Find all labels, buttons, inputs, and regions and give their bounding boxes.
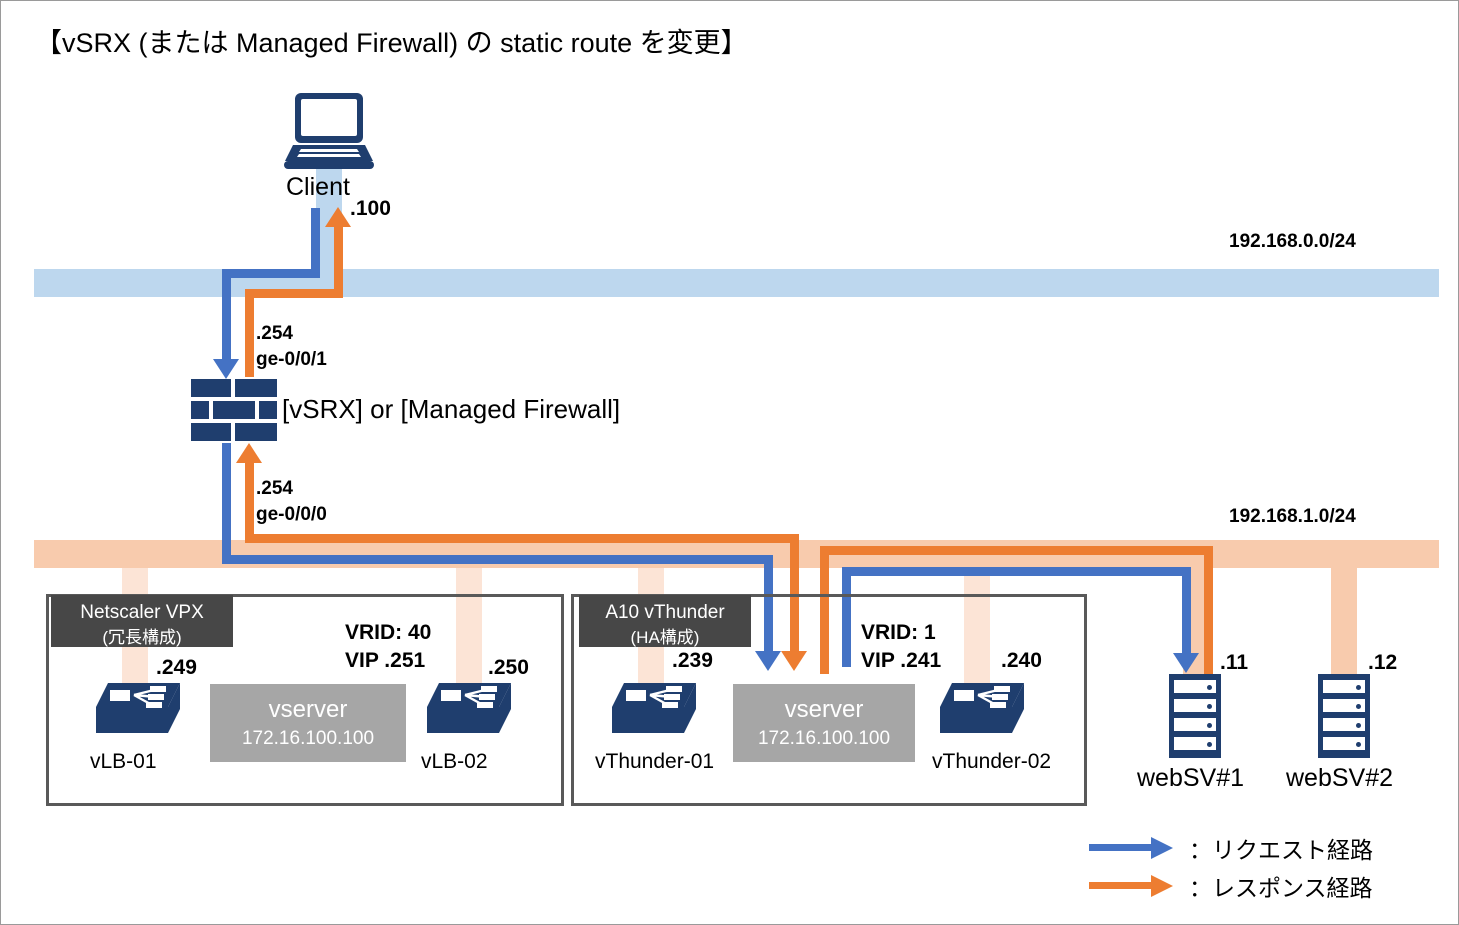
flow-blue-client-corner-h (222, 269, 320, 278)
legend-arrow-response (1151, 875, 1173, 897)
flow-blue-bar2-h (842, 567, 1191, 576)
vthunder-vserver-ip: 172.16.100.100 (733, 728, 915, 750)
vthunder-vserver-title: vserver (733, 696, 915, 724)
group-header-netscaler: Netscaler VPX (冗長構成) (51, 595, 233, 647)
fw-if-bottom-ip: .254 (256, 478, 293, 499)
flow-orange-bar-h (245, 534, 799, 543)
vlb01-name: vLB-01 (90, 750, 157, 774)
network-label-top: 192.168.0.0/24 (1229, 231, 1356, 253)
flow-orange-fw-up-v (245, 289, 254, 377)
flow-blue-client-down-a (311, 208, 320, 276)
firewall-interface-top: .254 ge-0/0/1 (256, 321, 327, 373)
flow-orange-corner-h (245, 289, 343, 298)
flow-orange-bar2-h (820, 546, 1213, 555)
websv1-ip: .11 (1220, 651, 1248, 675)
fw-if-top-ip: .254 (256, 323, 293, 344)
flow-blue-down-websv1-v (1182, 567, 1191, 655)
client-ip-label: .100 (350, 197, 391, 221)
legend-label-response: ：レスポンス経路 (1189, 869, 1373, 903)
netscaler-vip: VIP .251 (345, 649, 425, 672)
client-label: Client (286, 173, 350, 202)
flow-blue-to-fw-v (222, 269, 231, 361)
vthunder-vip: VIP .241 (861, 649, 941, 672)
websv2-name: webSV#2 (1286, 764, 1393, 793)
loadbalancer-icon-vlb01 (94, 681, 184, 747)
netscaler-header-sub: (冗長構成) (61, 625, 223, 650)
vthunder01-name: vThunder-01 (595, 750, 714, 774)
vlb01-ip: .249 (156, 656, 197, 680)
flow-orange-arrow-to-firewall (236, 443, 262, 463)
vthunder02-ip: .240 (1001, 649, 1042, 673)
loadbalancer-icon-vlb02 (425, 681, 515, 747)
vlb02-name: vLB-02 (421, 750, 488, 774)
legend-label-request: ：リクエスト経路 (1189, 831, 1373, 865)
websv2-ip: .12 (1368, 651, 1397, 675)
vserver-plate-vthunder: vserver 172.16.100.100 (733, 684, 915, 762)
stub-websv2 (1331, 561, 1357, 683)
group-header-vthunder: A10 vThunder (HA構成) (579, 595, 751, 647)
legend-arrow-request (1151, 837, 1173, 859)
network-label-bottom: 192.168.1.0/24 (1229, 506, 1356, 528)
vthunder01-ip: .239 (672, 649, 713, 673)
page-title: 【vSRX (または Managed Firewall) の static ro… (35, 21, 748, 60)
firewall-interface-bottom: .254 ge-0/0/0 (256, 476, 327, 528)
netscaler-vrid: VRID: 40 (345, 621, 431, 644)
legend-line-request (1089, 844, 1151, 851)
server-rack-icon-websv2 (1318, 674, 1370, 758)
fw-if-bottom-name: ge-0/0/0 (256, 504, 327, 525)
flow-orange-up-fw-v (245, 463, 254, 543)
netscaler-vserver-title: vserver (210, 696, 406, 724)
legend-line-response (1089, 882, 1151, 889)
loadbalancer-icon-vthunder01 (610, 681, 700, 747)
vlb02-ip: .250 (488, 656, 529, 680)
flow-orange-websv1-up-v (1204, 546, 1213, 674)
vserver-plate-netscaler: vserver 172.16.100.100 (210, 684, 406, 762)
firewall-brick-icon (191, 379, 277, 441)
vthunder-vrid: VRID: 1 (861, 621, 936, 644)
flow-orange-arrow-to-client (325, 207, 351, 227)
flow-blue-arrow-to-websv1 (1173, 653, 1199, 673)
laptop-icon (284, 93, 374, 169)
server-rack-icon-websv1 (1169, 674, 1221, 758)
flow-blue-arrow-to-firewall (213, 359, 239, 379)
netscaler-vserver-ip: 172.16.100.100 (210, 728, 406, 750)
flow-blue-fw-down-v (222, 443, 231, 555)
diagram-canvas: 【vSRX (または Managed Firewall) の static ro… (0, 0, 1459, 925)
netscaler-vrid-vip: VRID: 40 VIP .251 (345, 619, 431, 675)
fw-if-top-name: ge-0/0/1 (256, 349, 327, 370)
vthunder-vrid-vip: VRID: 1 VIP .241 (861, 619, 941, 675)
websv1-name: webSV#1 (1137, 764, 1244, 793)
loadbalancer-icon-vthunder02 (938, 681, 1028, 747)
netscaler-header-title: Netscaler VPX (80, 602, 204, 623)
firewall-label: [vSRX] or [Managed Firewall] (282, 394, 620, 425)
vthunder-header-sub: (HA構成) (589, 625, 741, 650)
flow-orange-to-client-v (334, 227, 343, 293)
vthunder02-name: vThunder-02 (932, 750, 1051, 774)
vthunder-header-title: A10 vThunder (605, 602, 724, 623)
flow-blue-bar-h (222, 555, 773, 564)
